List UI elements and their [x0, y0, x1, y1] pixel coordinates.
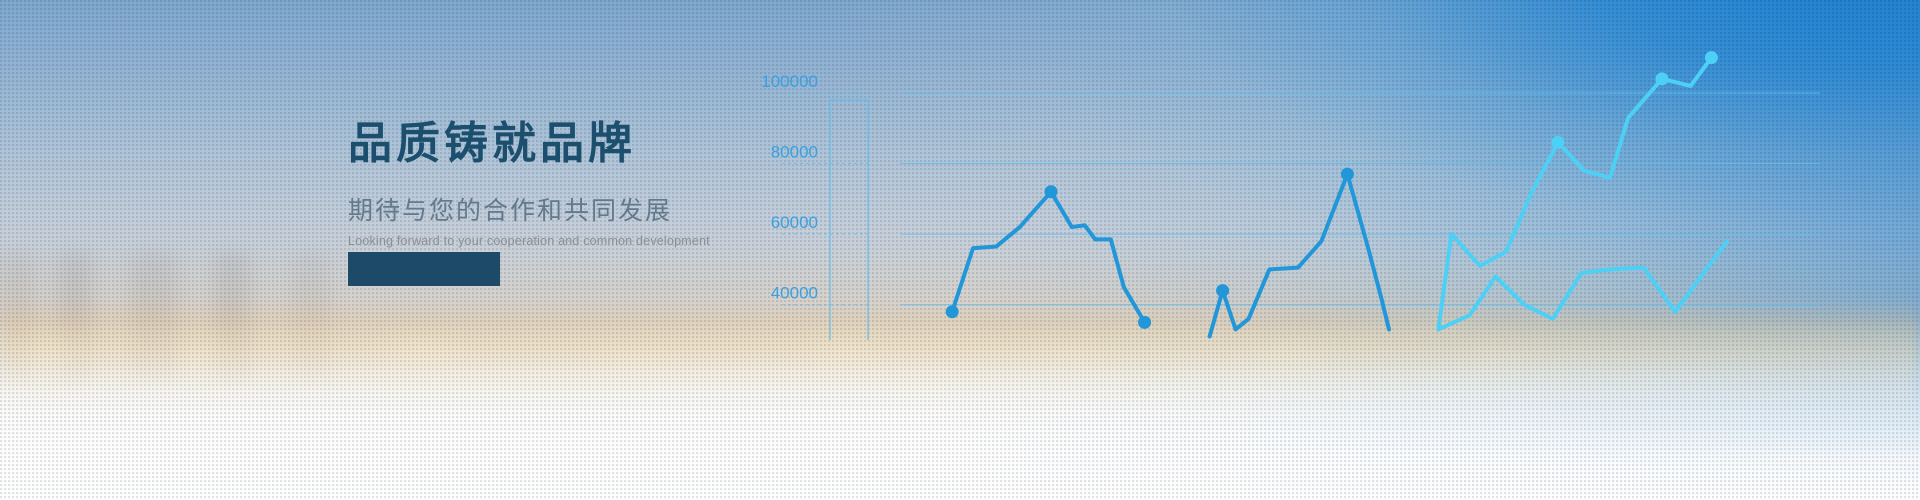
banner-copy-block: 品质铸就品牌 期待与您的合作和共同发展 Looking forward to y… — [348, 118, 768, 250]
chart-data-point — [1045, 185, 1058, 198]
y-axis-tick-label: 60000 — [771, 213, 818, 232]
chart-data-point — [1341, 168, 1354, 181]
chart-data-point — [1705, 51, 1718, 64]
chart-series-lines — [952, 58, 1727, 337]
page-title: 品质铸就品牌 — [348, 118, 768, 170]
chart-series-line — [1210, 174, 1389, 336]
y-axis-tick-label: 40000 — [771, 284, 818, 303]
y-axis-tick-label: 80000 — [771, 143, 818, 162]
chart-data-point — [1138, 316, 1151, 329]
chart-data-point — [1216, 284, 1229, 297]
chart-series-line — [1438, 241, 1727, 329]
page-subtitle: 期待与您的合作和共同发展 — [348, 196, 768, 226]
hero-banner: 品质铸就品牌 期待与您的合作和共同发展 Looking forward to y… — [0, 0, 1920, 500]
chart-series-line — [1438, 58, 1711, 330]
chart-svg: 400006000080000100000 — [760, 0, 1920, 500]
line-chart: 400006000080000100000 — [760, 0, 1920, 500]
chart-data-point — [946, 305, 959, 318]
y-axis-tick-label: 100000 — [761, 72, 818, 91]
page-subtitle-en: Looking forward to your cooperation and … — [348, 234, 768, 250]
cta-button[interactable] — [348, 252, 500, 286]
chart-gridlines — [782, 93, 1820, 305]
chart-axis-box — [830, 100, 868, 340]
chart-data-point — [1656, 72, 1669, 85]
chart-data-point — [1552, 136, 1565, 149]
chart-series-line — [952, 192, 1144, 323]
chart-y-axis-labels: 400006000080000100000 — [761, 72, 818, 303]
